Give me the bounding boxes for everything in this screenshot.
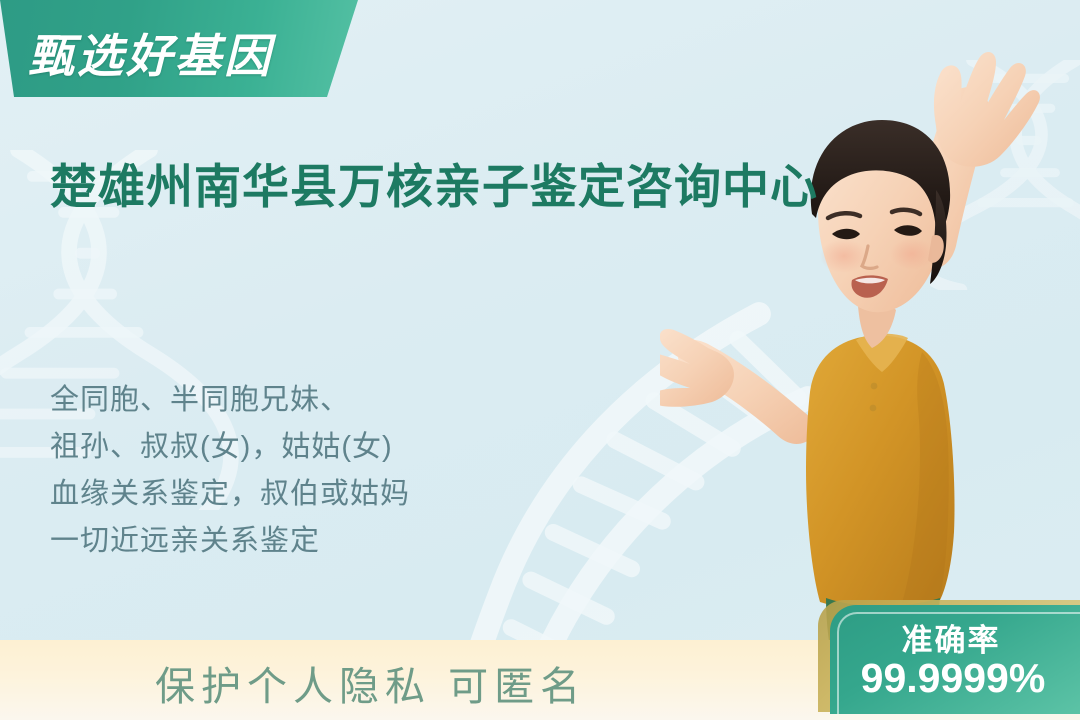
accuracy-badge-value: 99.9999%	[830, 655, 1076, 702]
accuracy-badge-label: 准确率	[830, 615, 1072, 660]
page-title: 楚雄州南华县万核亲子鉴定咨询中心	[50, 158, 860, 215]
description-line: 祖孙、叔叔(女)，姑姑(女)	[50, 424, 610, 471]
privacy-slogan: 保护个人隐私 可匿名	[155, 654, 586, 712]
accuracy-badge: 准确率 99.9999%	[808, 600, 1080, 714]
accuracy-badge-panel: 准确率 99.9999%	[830, 605, 1080, 714]
brand-logo-wordmark: 甄选好基因	[28, 20, 273, 86]
child-raising-arms-photo	[660, 40, 1080, 680]
description-line: 全同胞、半同胞兄妹、	[50, 377, 610, 424]
description-line: 血缘关系鉴定，叔伯或姑妈	[50, 471, 610, 518]
description-line: 一切近远亲关系鉴定	[50, 518, 610, 565]
promo-banner: 甄选好基因 楚雄州南华县万核亲子鉴定咨询中心 全同胞、半同胞兄妹、 祖孙、叔叔(…	[0, 0, 1080, 720]
service-description: 全同胞、半同胞兄妹、 祖孙、叔叔(女)，姑姑(女) 血缘关系鉴定，叔伯或姑妈 一…	[50, 377, 610, 565]
